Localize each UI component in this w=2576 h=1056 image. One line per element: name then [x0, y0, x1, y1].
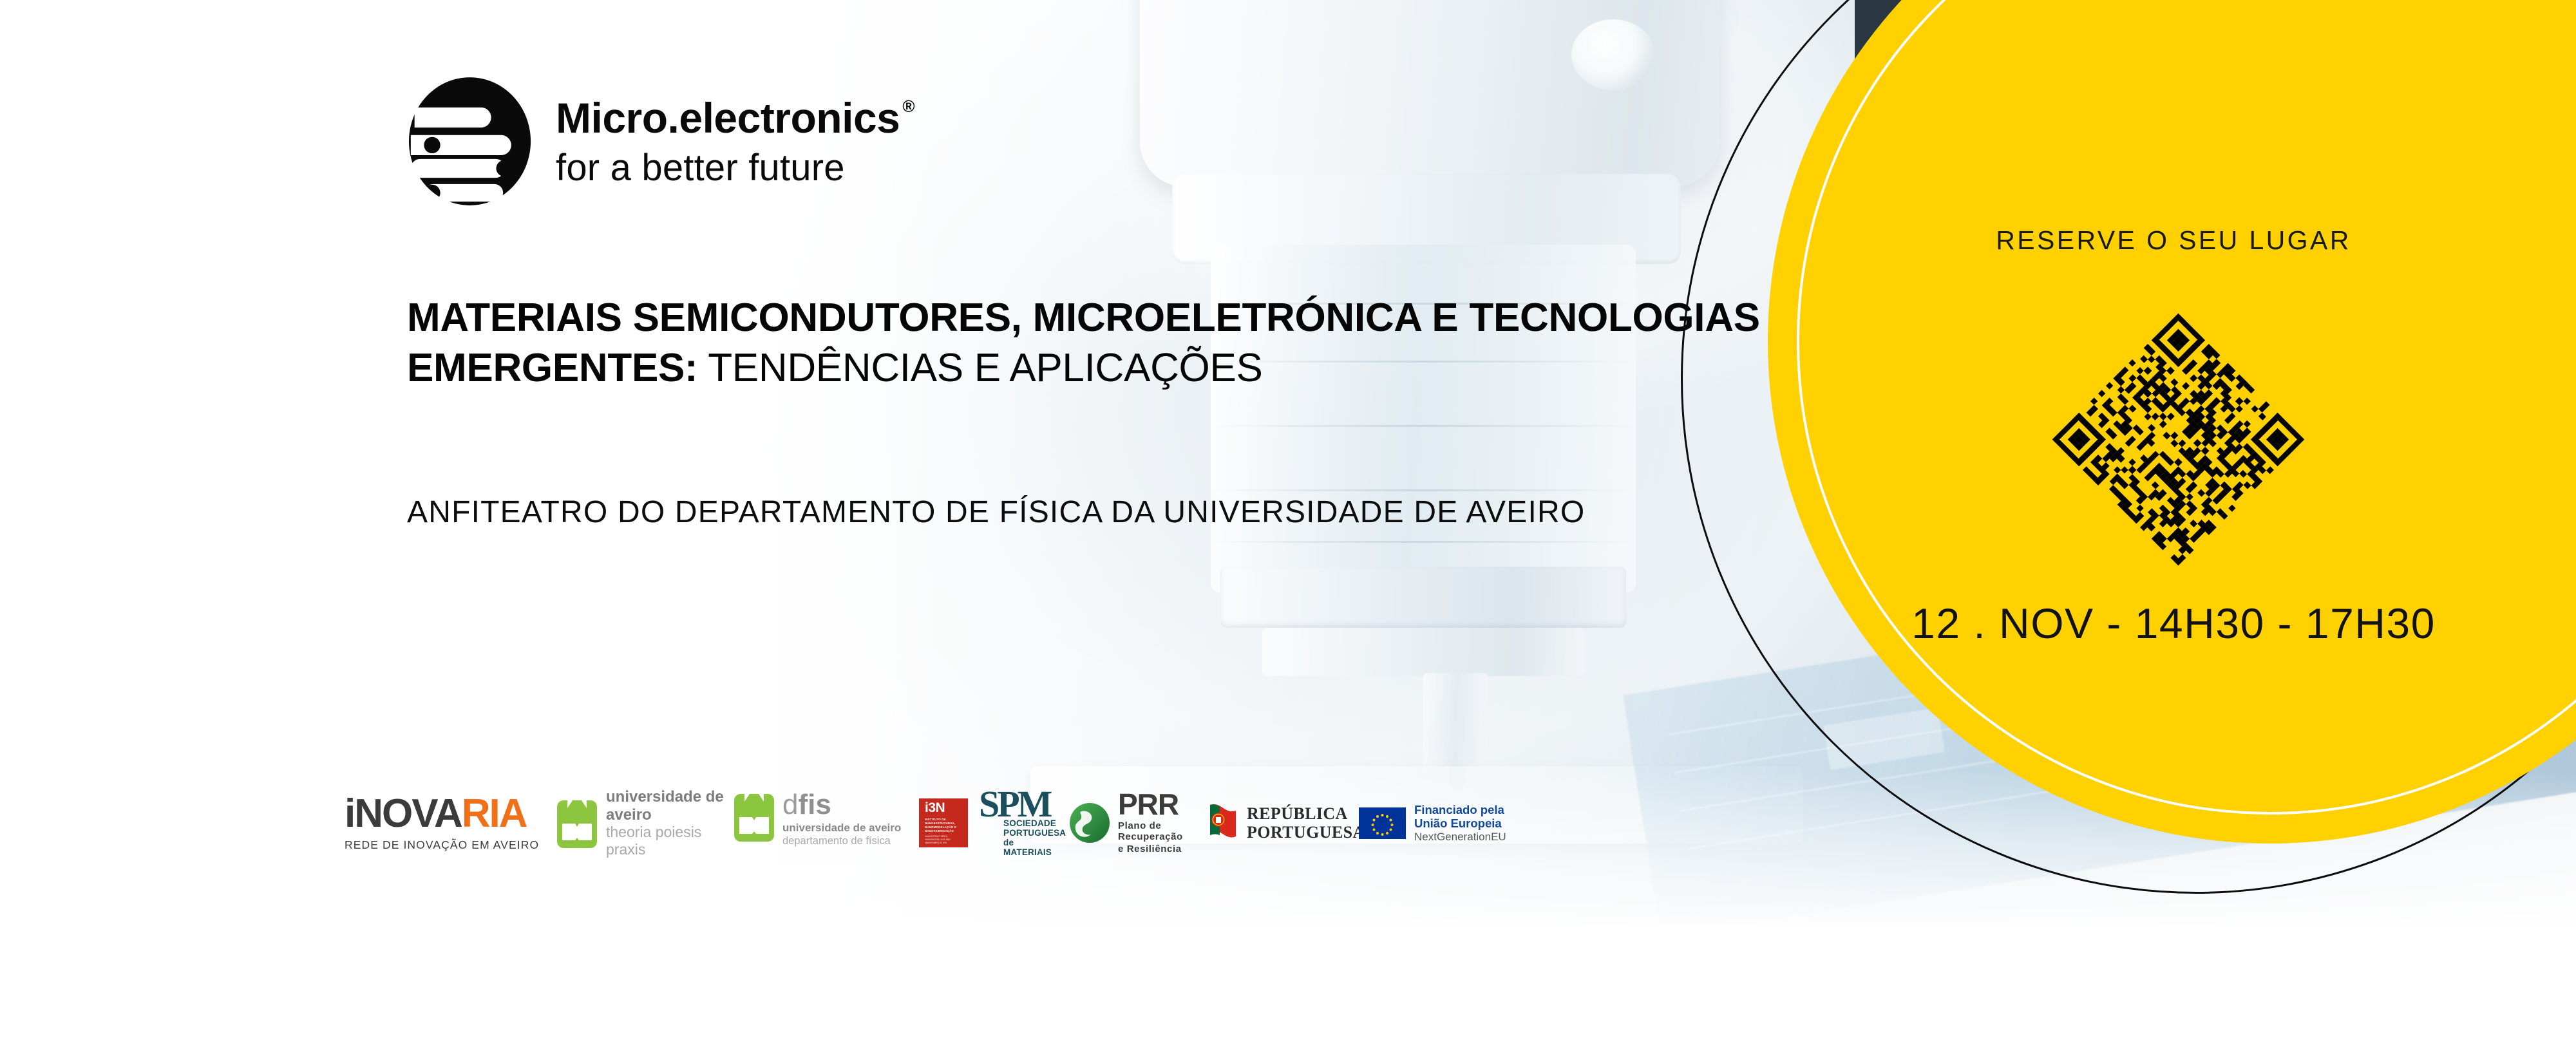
machine-stripe: [1211, 541, 1636, 543]
prr-line1: Plano de Recuperação: [1118, 821, 1207, 842]
sponsor-dfis: dfis universidade de aveiro departamento…: [734, 777, 908, 869]
brand-tagline: for a better future: [556, 149, 914, 187]
sponsor-strip: iNOVARIA REDE DE INOVAÇÃO EM AVEIRO univ…: [345, 784, 1520, 862]
republica-portuguesa-wordmark: REPÚBLICA PORTUGUESA: [1247, 804, 1365, 842]
i3n-logo-icon: i3N INSTITUTO DE NANOESTRUTURAS, NANOMOD…: [919, 798, 968, 847]
spm-line2: PORTUGUESA de: [1003, 828, 1069, 847]
eu-wordmark: Financiado pela União Europeia NextGener…: [1414, 803, 1506, 844]
european-union-flag-icon: [1359, 807, 1406, 839]
venue-line: ANFITEATRO DO DEPARTAMENTO DE FÍSICA DA …: [407, 495, 1824, 530]
dfis-university: universidade de aveiro: [782, 822, 901, 834]
qr-code-icon[interactable]: [2043, 304, 2313, 574]
reserve-label: RESERVE O SEU LUGAR: [1777, 225, 2570, 256]
sponsor-spm: SPM SOCIEDADE PORTUGUESA de MATERIAIS: [979, 784, 1069, 862]
brand-name: Micro.electronics: [556, 97, 900, 139]
registered-trademark-icon: ®: [902, 98, 914, 115]
machine-ring-bottom: [1262, 628, 1584, 676]
brand-logo: Micro.electronics ® for a better future: [407, 77, 914, 206]
ua-wordmark: universidade de aveiro theoria poiesis p…: [606, 788, 734, 858]
machine-stripe: [1211, 489, 1636, 491]
ua-name: universidade de aveiro: [606, 788, 734, 824]
eu-line2: União Europeia: [1414, 816, 1506, 830]
dfis-word-light: d: [782, 789, 798, 820]
prr-wordmark: PRR Plano de Recuperação e Resiliência: [1118, 791, 1207, 854]
eu-line1: Financiado pela: [1414, 803, 1506, 816]
universidade-de-aveiro-book-mark-icon: [557, 798, 597, 848]
machine-highlight: [1571, 19, 1655, 90]
prr-line2: e Resiliência: [1118, 844, 1207, 855]
sponsor-uniao-europeia: Financiado pela União Europeia NextGener…: [1359, 784, 1520, 862]
sponsor-inovaria: iNOVARIA REDE DE INOVAÇÃO EM AVEIRO: [345, 784, 557, 862]
machine-neck: [1423, 673, 1488, 776]
headline-light: TENDÊNCIAS E APLICAÇÕES: [697, 346, 1262, 390]
i3n-subtitle-en: NANOSTRUCTURES, NANOMODELLING AND NANOFA…: [925, 835, 962, 845]
prr-globe-logo-icon: [1069, 802, 1110, 844]
i3n-subtitle-pt: INSTITUTO DE NANOESTRUTURAS, NANOMODELAÇ…: [925, 818, 962, 833]
dfis-wordmark: dfis universidade de aveiro departamento…: [782, 791, 901, 847]
dfis-word: dfis: [782, 791, 901, 818]
ua-motto: theoria poiesis praxis: [606, 824, 734, 858]
machine-stripe: [1211, 425, 1636, 427]
i3n-word: i3N: [925, 801, 962, 815]
spm-word: SPM: [979, 789, 1050, 820]
prr-word: PRR: [1118, 791, 1207, 819]
micro-electronics-circuit-logo-icon: [407, 77, 533, 206]
page-title: MATERIAIS SEMICONDUTORES, MICROELETRÓNIC…: [407, 293, 1824, 393]
inovaria-tagline: REDE DE INOVAÇÃO EM AVEIRO: [345, 838, 539, 852]
dfis-word-bold: fis: [798, 789, 831, 820]
sponsor-i3n: i3N INSTITUTO DE NANOESTRUTURAS, NANOMOD…: [908, 784, 979, 862]
sponsor-prr: PRR Plano de Recuperação e Resiliência: [1069, 784, 1207, 862]
eu-line3: NextGenerationEU: [1414, 831, 1506, 843]
inovaria-word-accent: RIA: [462, 791, 527, 836]
sponsor-universidade-de-aveiro: universidade de aveiro theoria poiesis p…: [557, 784, 734, 862]
event-banner: Micro.electronics ® for a better future …: [0, 0, 2576, 1056]
inovaria-wordmark: iNOVARIA: [345, 794, 527, 834]
event-datetime: 12 . NOV - 14H30 - 17H30: [1777, 599, 2570, 648]
spm-line3: MATERIAIS: [1003, 847, 1069, 857]
spm-wordmark-lines: SOCIEDADE PORTUGUESA de MATERIAIS: [1003, 818, 1069, 857]
dfis-department: departamento de física: [782, 835, 901, 847]
qr-code-grid[interactable]: [2052, 313, 2304, 565]
portugal-flag-icon: [1207, 802, 1238, 844]
spm-line1: SOCIEDADE: [1003, 818, 1069, 828]
brand-wordmark: Micro.electronics ® for a better future: [556, 97, 914, 187]
rp-line2: PORTUGUESA: [1247, 823, 1365, 842]
inovaria-word-dark: iNOVA: [345, 791, 462, 836]
sponsor-republica-portuguesa: REPÚBLICA PORTUGUESA: [1207, 784, 1359, 862]
rp-line1: REPÚBLICA: [1247, 804, 1365, 823]
dfis-book-mark-icon: [734, 791, 774, 842]
machine-ring-lower: [1220, 567, 1626, 628]
